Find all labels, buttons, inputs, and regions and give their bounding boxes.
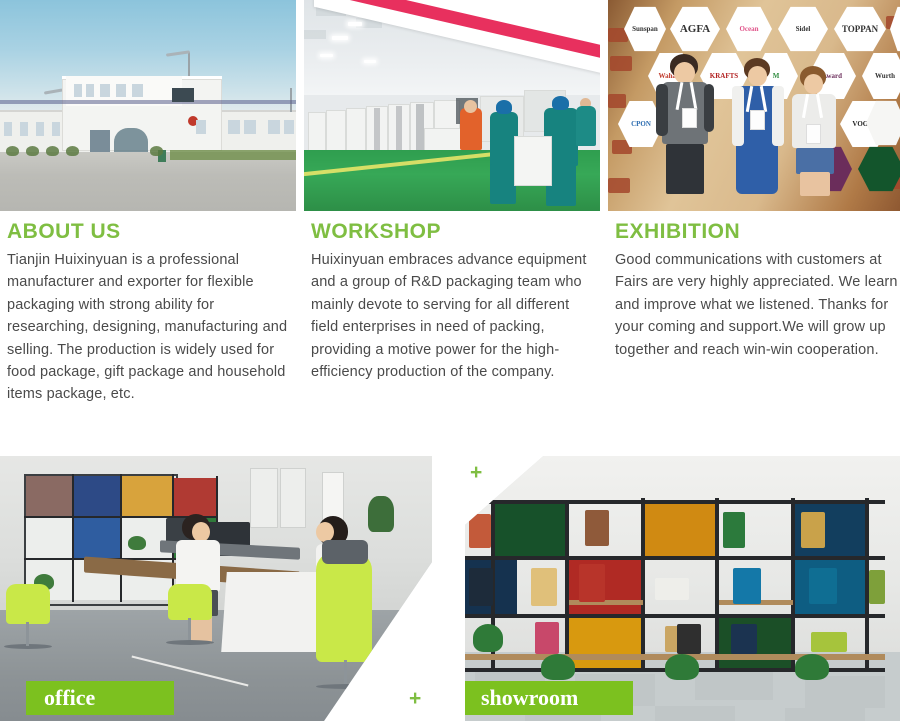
badge (682, 108, 697, 128)
floor-tile (785, 708, 865, 721)
ceiling-light (320, 54, 333, 57)
workshop-heading: WORKSHOP (311, 220, 600, 244)
floor-tile (695, 670, 773, 700)
shelf-rail (465, 556, 885, 560)
window (36, 122, 44, 136)
shelf-cell (26, 476, 72, 516)
machine-shadow (374, 108, 380, 150)
potted-plant (473, 624, 503, 652)
floor-tile (805, 676, 885, 708)
facade-band (0, 100, 296, 104)
exhibition-heading: EXHIBITION (615, 220, 900, 244)
window (228, 120, 240, 134)
ceiling-light (364, 60, 376, 63)
cardigan-left (732, 86, 744, 146)
column-workshop: WORKSHOP Huixinyuan embraces advance equ… (304, 0, 600, 438)
office-chair-green-large (316, 552, 372, 662)
shrub (150, 146, 163, 156)
shelf-cell (122, 476, 172, 516)
product-box (655, 578, 689, 600)
logo-label: KRAFTS (710, 72, 738, 80)
machine-shadow (396, 106, 402, 150)
logo-label: Wurth (875, 72, 895, 80)
window (284, 120, 294, 134)
legs (800, 172, 830, 196)
shelf-cell (74, 518, 120, 558)
product-pouch (809, 568, 837, 604)
window (4, 122, 12, 136)
shorts (796, 148, 834, 174)
potted-plant (795, 654, 829, 680)
product-pouch (531, 568, 557, 606)
office-label: office (26, 681, 174, 715)
worker-orange-uniform (460, 108, 482, 150)
window (86, 84, 94, 97)
badge (806, 124, 821, 144)
potted-plant (665, 654, 699, 680)
door (250, 468, 278, 528)
window (74, 84, 82, 97)
product-box (579, 564, 605, 602)
office-chair-green (6, 584, 50, 624)
shelf-rail (465, 614, 885, 618)
machine-shadow (416, 104, 424, 150)
worker-legs (490, 164, 516, 204)
product-pouch (585, 510, 609, 546)
product-pouch (801, 512, 825, 548)
column-about-us: ABOUT US Tianjin Huixinyuan is a profess… (0, 0, 296, 438)
about-us-heading: ABOUT US (7, 220, 296, 244)
logo-label: Sidel (796, 25, 811, 33)
logo-label: M (773, 72, 780, 80)
showroom-label: showroom (465, 681, 633, 715)
window (132, 84, 143, 97)
product-pouch (723, 512, 745, 548)
shrub (46, 146, 59, 156)
brick (608, 94, 626, 108)
window (244, 120, 256, 134)
logo-label: AGFA (680, 23, 710, 35)
shrub (26, 146, 39, 156)
product-box (677, 624, 701, 654)
ceiling-panel (304, 30, 326, 39)
feature-columns: ABOUT US Tianjin Huixinyuan is a profess… (0, 0, 900, 438)
badge (750, 110, 765, 130)
hedge-strip (170, 150, 296, 160)
desk-front-panel (221, 572, 323, 652)
window (20, 122, 28, 136)
face (804, 74, 823, 94)
shelf-post (791, 498, 795, 672)
dress-hem (736, 160, 778, 194)
door (280, 468, 306, 528)
brick (610, 56, 632, 71)
potted-plant (128, 536, 146, 550)
roof-vent (172, 88, 194, 102)
chair-base (166, 640, 214, 645)
plus-marker-showroom-top[interactable]: + (470, 462, 482, 483)
entrance-canopy (114, 128, 148, 152)
product-pouch (469, 514, 491, 548)
logo-label: TOPPAN (842, 24, 878, 34)
potted-plant (541, 654, 575, 680)
face (748, 66, 767, 86)
shelf-rail (465, 500, 885, 504)
gallery-row: office showroom + + (0, 438, 900, 721)
factory-photo[interactable] (0, 0, 296, 211)
product-bottle (469, 568, 493, 606)
chair-stem (188, 618, 191, 642)
chair-headrest (322, 540, 368, 564)
product-pouch (869, 570, 885, 604)
shelf-backing-green (493, 502, 569, 558)
chair-base (316, 684, 378, 689)
product-pouch (535, 622, 559, 654)
shelf-post (715, 498, 719, 672)
face (192, 522, 210, 542)
column-exhibition: Sunspan AGFA Ocean Sidel TOPPAN Wahaha (608, 0, 900, 438)
shelf-post (641, 498, 645, 672)
window (100, 84, 110, 97)
window (196, 120, 206, 134)
product-box (731, 624, 757, 654)
face (316, 522, 334, 542)
shelf-cell (26, 518, 72, 558)
office-chair-green (168, 584, 212, 620)
backpack-strap (704, 84, 714, 132)
worker-head (464, 100, 477, 113)
shelf-post (565, 500, 569, 672)
shorts (666, 144, 704, 194)
shrub (6, 146, 19, 156)
plus-marker-office-bottom[interactable]: + (409, 688, 421, 709)
face (674, 62, 695, 84)
exhibition-photo[interactable]: Sunspan AGFA Ocean Sidel TOPPAN Wahaha (608, 0, 900, 211)
ceiling-light (332, 36, 348, 40)
product-pouch (733, 568, 761, 604)
workshop-body: Huixinyuan embraces advance equipment an… (311, 249, 594, 383)
office-label-text: office (44, 685, 95, 711)
logo-label: Sunspan (632, 25, 658, 33)
shelf-backing-orange (645, 500, 717, 558)
shelf-cell (74, 476, 120, 516)
shelf-post (72, 474, 74, 602)
worker-cap (552, 96, 569, 110)
chair-stem (26, 622, 29, 646)
shrub (66, 146, 79, 156)
product-pack (811, 632, 847, 652)
about-us-body: Tianjin Huixinyuan is a professional man… (7, 249, 290, 406)
office-plant (368, 496, 394, 532)
parking-lot (0, 152, 296, 211)
shelf-post (120, 474, 122, 602)
window (52, 122, 60, 136)
logo-label: Ocean (739, 25, 758, 33)
workshop-photo[interactable] (304, 0, 600, 211)
worker-cap (496, 100, 512, 114)
cardigan-right (772, 86, 784, 146)
exhibition-body: Good communications with customers at Fa… (615, 249, 898, 361)
brick (608, 178, 630, 193)
floor-tile (655, 706, 735, 721)
showroom-label-text: showroom (481, 685, 578, 711)
chair-stem (344, 660, 347, 686)
window (268, 120, 280, 134)
worker-far (576, 106, 596, 146)
window (116, 84, 126, 97)
logo-label: CPON (631, 120, 651, 128)
operator-console (514, 136, 552, 186)
ceiling-light (348, 22, 362, 26)
entrance-door (90, 130, 110, 152)
company-profile-page: ABOUT US Tianjin Huixinyuan is a profess… (0, 0, 900, 721)
backpack-strap (656, 84, 668, 136)
shelf-cell (174, 478, 216, 516)
shelf-backing-amber (569, 618, 643, 670)
